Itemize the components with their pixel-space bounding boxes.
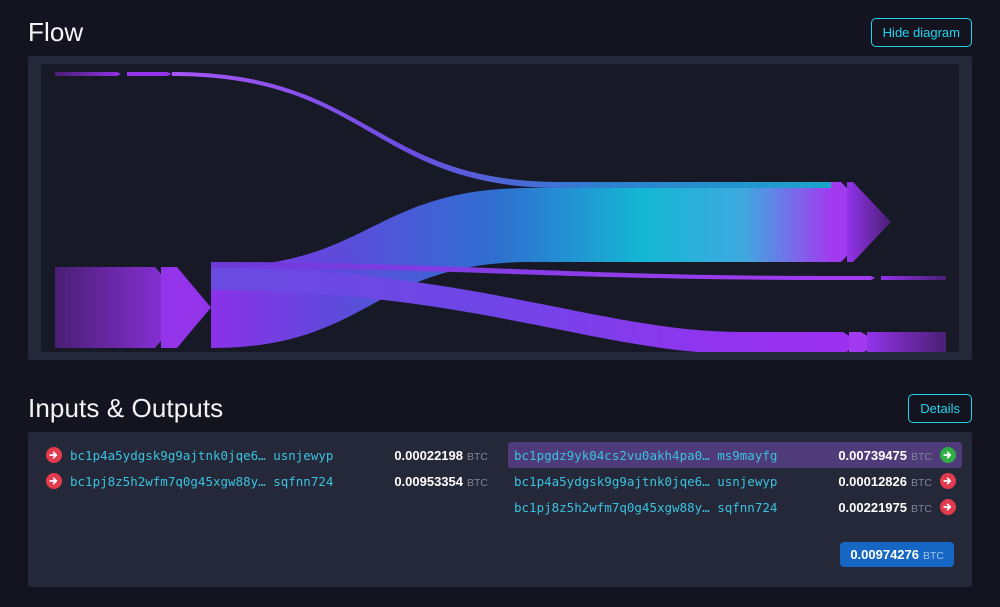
arrow-right-circle-icon[interactable] [940,447,956,463]
outputs-column: bc1pgdz9yk04cs2vu0akh4pa0… ms9mayfg0.007… [508,442,962,520]
output-address[interactable]: bc1pj8z5h2wfm7q0g45xgw88y… sqfnn724 [514,500,777,515]
output-address[interactable]: bc1p4a5ydgsk9g9ajtnk0jqe6… usnjewyp [514,474,777,489]
sankey-canvas[interactable] [41,64,959,352]
output-amount-cell: 0.00221975BTC [838,500,932,515]
flow-title: Flow [28,16,83,48]
input-row[interactable]: bc1p4a5ydgsk9g9ajtnk0jqe6… usnjewyp0.000… [40,442,494,468]
flow-diagram-panel [28,56,972,360]
output-unit: BTC [911,503,932,515]
input-address[interactable]: bc1pj8z5h2wfm7q0g45xgw88y… sqfnn724 [70,474,333,489]
arrow-right-circle-icon[interactable] [46,473,62,489]
flow-section-header: Flow Hide diagram [28,16,972,48]
sankey-link-in1-out2[interactable] [172,72,831,188]
input-amount-cell: 0.00022198BTC [394,448,488,463]
output-amount: 0.00221975 [838,500,907,515]
input-unit: BTC [467,477,488,489]
sankey-input-node-1[interactable] [55,72,172,76]
sankey-output-node-2[interactable] [831,276,946,280]
hide-diagram-button[interactable]: Hide diagram [871,18,972,47]
inputs-outputs-panel: bc1p4a5ydgsk9g9ajtnk0jqe6… usnjewyp0.000… [28,432,972,587]
arrow-right-circle-icon[interactable] [940,499,956,515]
inputs-column: bc1p4a5ydgsk9g9ajtnk0jqe6… usnjewyp0.000… [40,442,494,494]
arrow-right-circle-icon[interactable] [46,447,62,463]
io-section-header: Inputs & Outputs Details [28,392,972,424]
output-row[interactable]: bc1pgdz9yk04cs2vu0akh4pa0… ms9mayfg0.007… [508,442,962,468]
sankey-output-node-1[interactable] [831,182,891,262]
arrow-right-circle-icon[interactable] [940,473,956,489]
sankey-output-node-3[interactable] [831,332,946,352]
details-button[interactable]: Details [908,394,972,423]
input-amount: 0.00953354 [394,474,463,489]
sankey-input-node-2[interactable] [55,267,211,348]
output-unit: BTC [911,451,932,463]
input-row[interactable]: bc1pj8z5h2wfm7q0g45xgw88y… sqfnn7240.009… [40,468,494,494]
output-total-badge[interactable]: 0.00974276 BTC [840,542,954,567]
transaction-flow-page: Flow Hide diagram [0,0,1000,607]
output-address[interactable]: bc1pgdz9yk04cs2vu0akh4pa0… ms9mayfg [514,448,777,463]
output-unit: BTC [911,477,932,489]
input-unit: BTC [467,451,488,463]
total-unit: BTC [923,550,944,562]
total-amount: 0.00974276 [850,547,919,562]
io-title: Inputs & Outputs [28,392,223,424]
output-amount-cell: 0.00012826BTC [838,474,932,489]
output-amount: 0.00739475 [838,448,907,463]
output-amount: 0.00012826 [838,474,907,489]
input-amount: 0.00022198 [394,448,463,463]
total-row: 0.00974276 BTC [40,542,960,567]
output-row[interactable]: bc1pj8z5h2wfm7q0g45xgw88y… sqfnn7240.002… [508,494,962,520]
sankey-diagram[interactable] [41,64,959,352]
input-amount-cell: 0.00953354BTC [394,474,488,489]
output-row[interactable]: bc1p4a5ydgsk9g9ajtnk0jqe6… usnjewyp0.000… [508,468,962,494]
output-amount-cell: 0.00739475BTC [838,448,932,463]
input-address[interactable]: bc1p4a5ydgsk9g9ajtnk0jqe6… usnjewyp [70,448,333,463]
